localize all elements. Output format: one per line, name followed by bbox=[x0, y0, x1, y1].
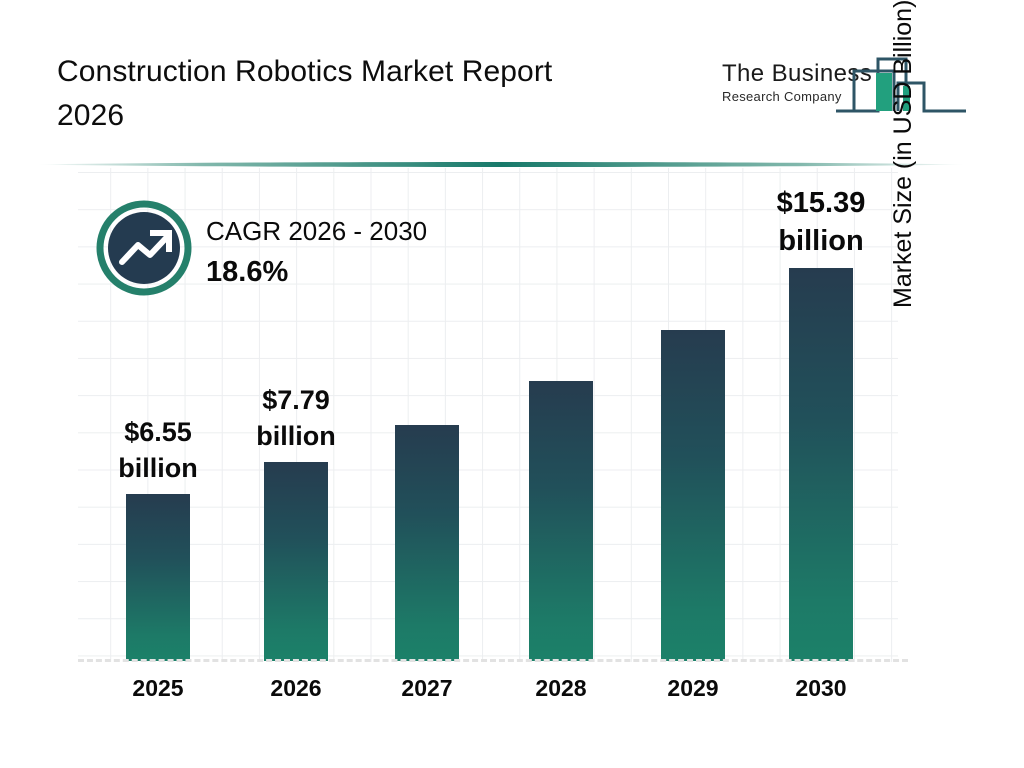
trending-up-icon bbox=[96, 200, 192, 296]
x-axis-label-2025: 2025 bbox=[98, 675, 218, 702]
bar-fill bbox=[395, 425, 459, 661]
cagr-text-block: CAGR 2026 - 2030 18.6% bbox=[206, 214, 427, 292]
company-logo: The Business Research Company bbox=[722, 33, 972, 133]
cagr-badge: CAGR 2026 - 2030 18.6% bbox=[96, 200, 476, 300]
page-title: Construction Robotics Market Report 2026 bbox=[57, 50, 697, 138]
x-axis-label-2029: 2029 bbox=[633, 675, 753, 702]
x-axis-label-2027: 2027 bbox=[367, 675, 487, 702]
bar-2029[interactable] bbox=[661, 330, 725, 661]
bar-fill bbox=[264, 462, 328, 661]
x-axis-label-2026: 2026 bbox=[236, 675, 356, 702]
bar-fill bbox=[661, 330, 725, 661]
bar-2027[interactable] bbox=[395, 425, 459, 661]
header-divider bbox=[34, 155, 968, 162]
bar-fill bbox=[529, 381, 593, 661]
bar-fill bbox=[789, 268, 853, 661]
cagr-value: 18.6% bbox=[206, 252, 427, 292]
value-label-2025: $6.55 billion bbox=[78, 414, 238, 486]
bar-2030[interactable] bbox=[789, 268, 853, 661]
value-label-2026: $7.79 billion bbox=[216, 382, 376, 454]
y-axis-title: Market Size (in USD Billion) bbox=[889, 0, 929, 308]
cagr-period-label: CAGR 2026 - 2030 bbox=[206, 214, 427, 248]
bar-2028[interactable] bbox=[529, 381, 593, 661]
x-axis-label-2030: 2030 bbox=[761, 675, 881, 702]
bar-2025[interactable] bbox=[126, 494, 190, 661]
bar-fill bbox=[126, 494, 190, 661]
x-axis-label-2028: 2028 bbox=[501, 675, 621, 702]
header: Construction Robotics Market Report 2026… bbox=[0, 0, 1024, 150]
bar-2026[interactable] bbox=[264, 462, 328, 661]
chart-page: Construction Robotics Market Report 2026… bbox=[0, 0, 1024, 768]
value-label-2030: $15.39 billion bbox=[741, 184, 901, 260]
axis-baseline bbox=[78, 659, 908, 662]
